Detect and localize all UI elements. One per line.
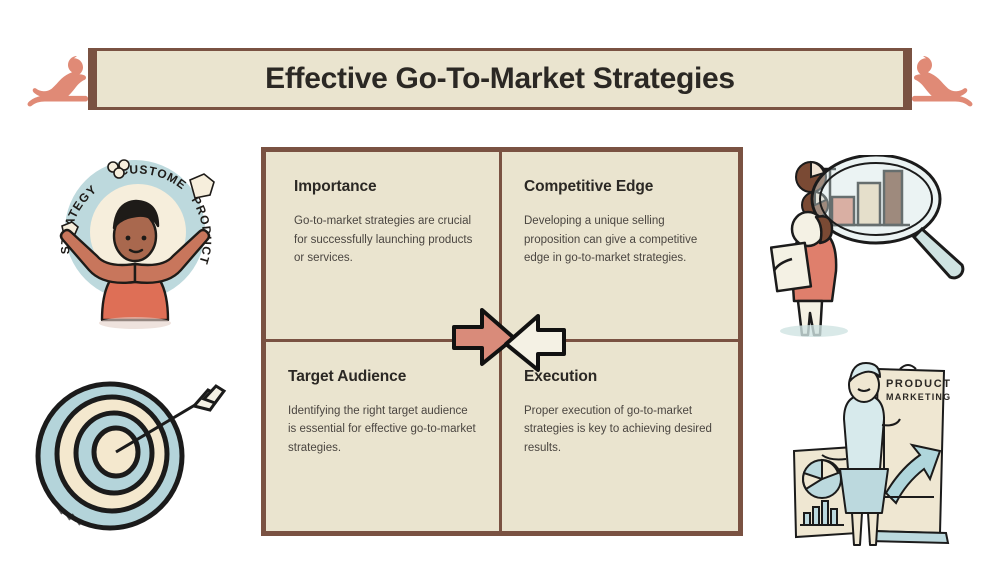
quadrant-title-target-audience: Target Audience	[288, 368, 477, 386]
quadrant-body-target-audience: Identifying the right target audience is…	[288, 402, 477, 458]
illustration-target-with-arrow	[28, 368, 233, 533]
quadrant-title-execution: Execution	[524, 368, 716, 386]
illustration-analyzing-bar-chart	[770, 155, 985, 337]
seated-person-right-decoration	[904, 52, 978, 110]
quadrant-importance: Importance Go-to-market strategies are c…	[266, 152, 502, 342]
seated-person-left-decoration	[22, 52, 96, 110]
strategy-quadrant-grid: Importance Go-to-market strategies are c…	[261, 147, 743, 536]
title-banner-frame: Effective Go-To-Market Strategies	[88, 48, 912, 110]
illustration-strategy-customers-product: STRATEGY CUSTOMERS PRODUCT	[40, 140, 235, 335]
illustration-product-marketing-banner: PRODUCT MARKETING	[782, 355, 994, 547]
title-banner: Effective Go-To-Market Strategies	[88, 48, 912, 110]
page-title: Effective Go-To-Market Strategies	[265, 62, 735, 96]
banner-text-line1: PRODUCT	[886, 378, 952, 390]
quadrant-execution: Execution Proper execution of go-to-mark…	[502, 342, 738, 532]
quadrant-body-competitive-edge: Developing a unique selling proposition …	[524, 212, 716, 268]
quadrant-body-execution: Proper execution of go-to-market strateg…	[524, 402, 716, 458]
infographic-canvas: Effective Go-To-Market Strategies Import…	[0, 0, 1000, 563]
quadrant-target-audience: Target Audience Identifying the right ta…	[266, 342, 502, 532]
quadrant-title-importance: Importance	[288, 178, 477, 196]
quadrant-title-competitive-edge: Competitive Edge	[524, 178, 716, 196]
quadrant-competitive-edge: Competitive Edge Developing a unique sel…	[502, 152, 738, 342]
banner-text-line2: MARKETING	[886, 392, 951, 402]
quadrant-body-importance: Go-to-market strategies are crucial for …	[288, 212, 477, 268]
